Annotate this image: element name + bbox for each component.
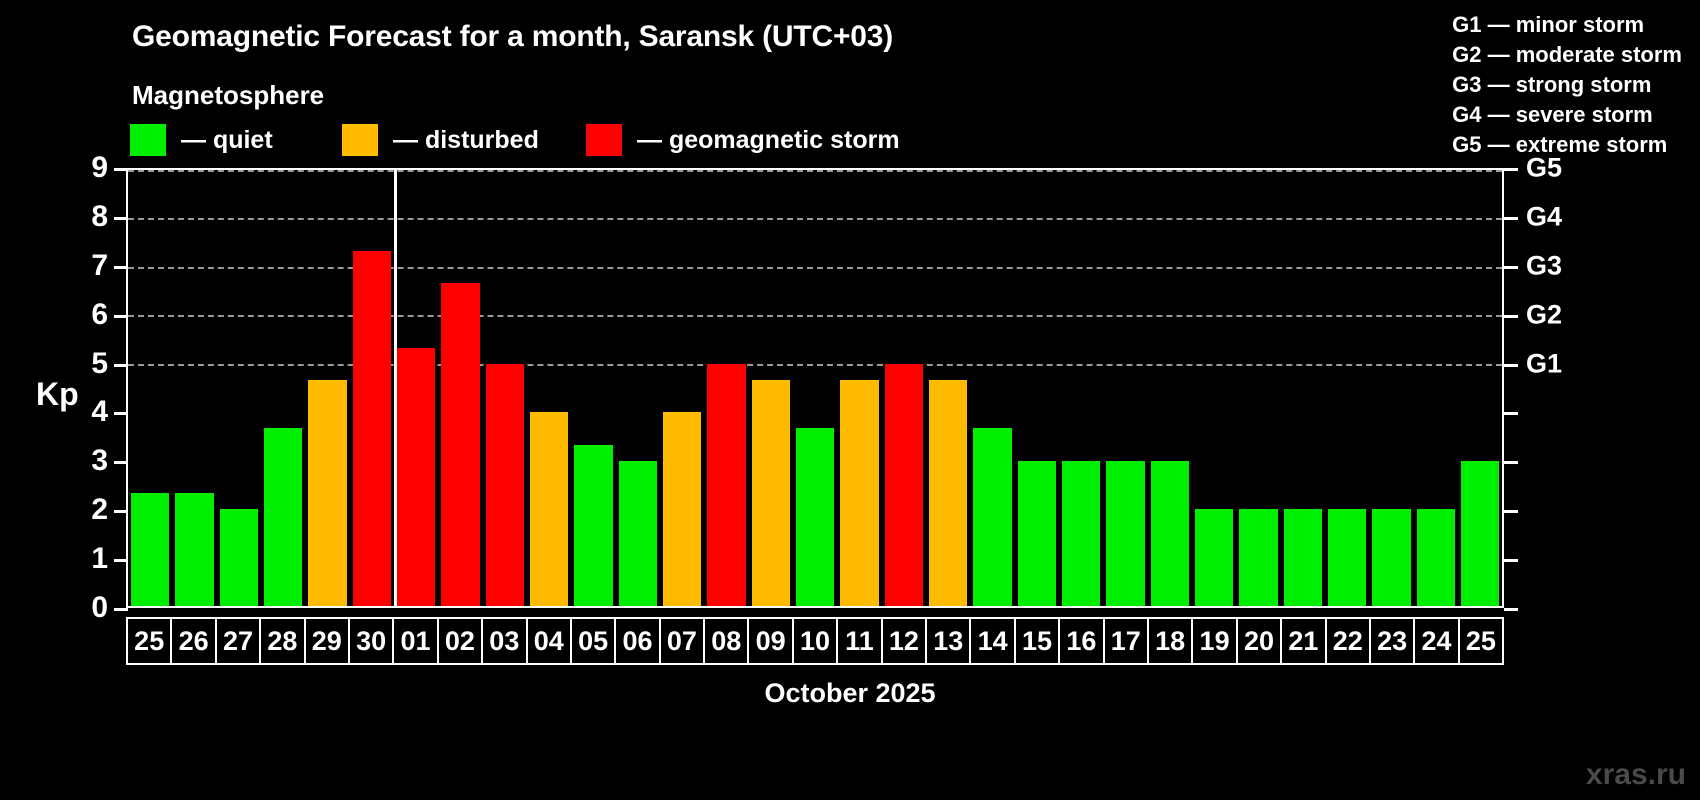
legend-label-quiet: — quiet <box>181 126 273 155</box>
g-tick-0 <box>1504 608 1518 611</box>
date-cell-27: 27 <box>215 617 261 665</box>
bar-22 <box>1328 509 1366 606</box>
date-cell-25: 25 <box>1458 617 1504 665</box>
date-cell-28: 28 <box>259 617 305 665</box>
bar-20 <box>1239 509 1277 606</box>
bar-slot <box>882 170 926 606</box>
date-cell-10: 10 <box>792 617 838 665</box>
bar-29 <box>308 380 346 606</box>
bar-21 <box>1284 509 1322 606</box>
x-axis-label: October 2025 <box>0 678 1700 709</box>
g-scale-legend: G1 — minor stormG2 — moderate stormG3 — … <box>1452 10 1682 160</box>
date-cell-12: 12 <box>881 617 927 665</box>
bar-slot <box>1281 170 1325 606</box>
bar-slot <box>1015 170 1059 606</box>
date-cell-25: 25 <box>126 617 172 665</box>
bar-slot <box>571 170 615 606</box>
bar-slot <box>926 170 970 606</box>
legend-swatch-quiet <box>130 124 166 156</box>
date-cell-21: 21 <box>1280 617 1326 665</box>
g-tick-8 <box>1504 217 1518 220</box>
bar-slot <box>1369 170 1413 606</box>
bar-slot <box>837 170 881 606</box>
bar-11 <box>840 380 878 606</box>
bar-slot <box>1325 170 1369 606</box>
bar-27 <box>220 509 258 606</box>
bar-15 <box>1018 461 1056 606</box>
g-scale-row-4: G4 — severe storm <box>1452 100 1682 130</box>
date-cell-29: 29 <box>304 617 350 665</box>
date-cell-18: 18 <box>1147 617 1193 665</box>
date-cell-16: 16 <box>1058 617 1104 665</box>
bar-slot <box>704 170 748 606</box>
bar-slot <box>1414 170 1458 606</box>
bar-08 <box>707 364 745 606</box>
bar-slot <box>261 170 305 606</box>
g-tick-9 <box>1504 168 1518 171</box>
g-axis: G1G2G3G4G5 <box>1504 168 1520 608</box>
legend-label-disturbed: — disturbed <box>393 126 539 155</box>
bar-series <box>128 170 1502 606</box>
legend-item-quiet: — quiet <box>130 124 273 156</box>
bar-slot <box>483 170 527 606</box>
g-axis-label-G1: G1 <box>1526 348 1562 379</box>
bar-16 <box>1062 461 1100 606</box>
g-axis-label-G4: G4 <box>1526 201 1562 232</box>
g-scale-row-3: G3 — strong storm <box>1452 70 1682 100</box>
bar-09 <box>752 380 790 606</box>
bar-slot <box>128 170 172 606</box>
legend-swatch-storm <box>586 124 622 156</box>
watermark: xras.ru <box>1586 758 1686 792</box>
bar-07 <box>663 412 701 606</box>
bar-slot <box>1192 170 1236 606</box>
g-axis-label-G3: G3 <box>1526 250 1562 281</box>
bar-26 <box>175 493 213 606</box>
date-cell-11: 11 <box>836 617 882 665</box>
bar-01 <box>397 348 435 606</box>
date-cell-19: 19 <box>1191 617 1237 665</box>
bar-17 <box>1106 461 1144 606</box>
g-scale-row-5: G5 — extreme storm <box>1452 130 1682 160</box>
g-axis-label-G2: G2 <box>1526 299 1562 330</box>
date-cell-24: 24 <box>1413 617 1459 665</box>
legend-swatch-disturbed <box>342 124 378 156</box>
bar-slot <box>1103 170 1147 606</box>
date-cell-04: 04 <box>526 617 572 665</box>
y-tick-label-8: 8 <box>68 200 108 234</box>
legend-item-disturbed: — disturbed <box>342 124 539 156</box>
bar-slot <box>749 170 793 606</box>
bar-03 <box>486 364 524 606</box>
bar-slot <box>394 170 438 606</box>
bar-02 <box>441 283 479 606</box>
bar-slot <box>660 170 704 606</box>
bar-slot <box>172 170 216 606</box>
bar-slot <box>1236 170 1280 606</box>
y-tick-label-1: 1 <box>68 542 108 576</box>
date-cell-17: 17 <box>1103 617 1149 665</box>
bar-19 <box>1195 509 1233 606</box>
date-cell-03: 03 <box>481 617 527 665</box>
g-tick-7 <box>1504 266 1518 269</box>
bar-24 <box>1417 509 1455 606</box>
bar-23 <box>1372 509 1410 606</box>
bar-slot <box>350 170 394 606</box>
date-cell-20: 20 <box>1236 617 1282 665</box>
y-tick-0 <box>114 608 128 611</box>
y-tick-label-9: 9 <box>68 151 108 185</box>
g-scale-row-2: G2 — moderate storm <box>1452 40 1682 70</box>
y-axis-label: Kp <box>36 376 79 413</box>
bar-05 <box>574 445 612 606</box>
date-cell-26: 26 <box>170 617 216 665</box>
bar-slot <box>1148 170 1192 606</box>
bar-slot <box>970 170 1014 606</box>
y-tick-label-3: 3 <box>68 444 108 478</box>
bar-slot <box>1458 170 1502 606</box>
bar-slot <box>438 170 482 606</box>
bar-10 <box>796 428 834 606</box>
y-tick-label-0: 0 <box>68 591 108 625</box>
g-tick-5 <box>1504 364 1518 367</box>
date-cell-08: 08 <box>703 617 749 665</box>
date-cell-23: 23 <box>1369 617 1415 665</box>
magnetosphere-label: Magnetosphere <box>132 80 324 111</box>
x-axis-date-labels: 2526272829300102030405060708091011121314… <box>126 617 1504 665</box>
g-tick-6 <box>1504 315 1518 318</box>
g-tick-2 <box>1504 510 1518 513</box>
date-cell-15: 15 <box>1014 617 1060 665</box>
g-tick-1 <box>1504 559 1518 562</box>
bar-18 <box>1151 461 1189 606</box>
g-scale-row-1: G1 — minor storm <box>1452 10 1682 40</box>
date-cell-13: 13 <box>925 617 971 665</box>
y-tick-label-2: 2 <box>68 493 108 527</box>
bar-12 <box>885 364 923 606</box>
bar-14 <box>973 428 1011 606</box>
bar-slot <box>1059 170 1103 606</box>
date-cell-22: 22 <box>1325 617 1371 665</box>
bar-25 <box>131 493 169 606</box>
bar-13 <box>929 380 967 606</box>
bar-slot <box>527 170 571 606</box>
date-cell-09: 09 <box>747 617 793 665</box>
bar-slot <box>305 170 349 606</box>
date-cell-30: 30 <box>348 617 394 665</box>
y-tick-label-6: 6 <box>68 298 108 332</box>
date-cell-06: 06 <box>614 617 660 665</box>
bar-slot <box>793 170 837 606</box>
g-tick-4 <box>1504 412 1518 415</box>
legend-label-storm: — geomagnetic storm <box>637 126 900 155</box>
date-cell-01: 01 <box>392 617 438 665</box>
date-cell-14: 14 <box>969 617 1015 665</box>
g-axis-label-G5: G5 <box>1526 153 1562 184</box>
bar-28 <box>264 428 302 606</box>
bar-06 <box>619 461 657 606</box>
date-cell-07: 07 <box>659 617 705 665</box>
page-title: Geomagnetic Forecast for a month, Sarans… <box>132 20 893 54</box>
bar-04 <box>530 412 568 606</box>
bar-30 <box>353 251 391 606</box>
plot-area <box>126 168 1504 608</box>
date-cell-02: 02 <box>437 617 483 665</box>
date-cell-05: 05 <box>570 617 616 665</box>
bar-slot <box>616 170 660 606</box>
legend-item-storm: — geomagnetic storm <box>586 124 900 156</box>
g-tick-3 <box>1504 461 1518 464</box>
bar-25 <box>1461 461 1499 606</box>
y-tick-label-7: 7 <box>68 249 108 283</box>
bar-slot <box>217 170 261 606</box>
